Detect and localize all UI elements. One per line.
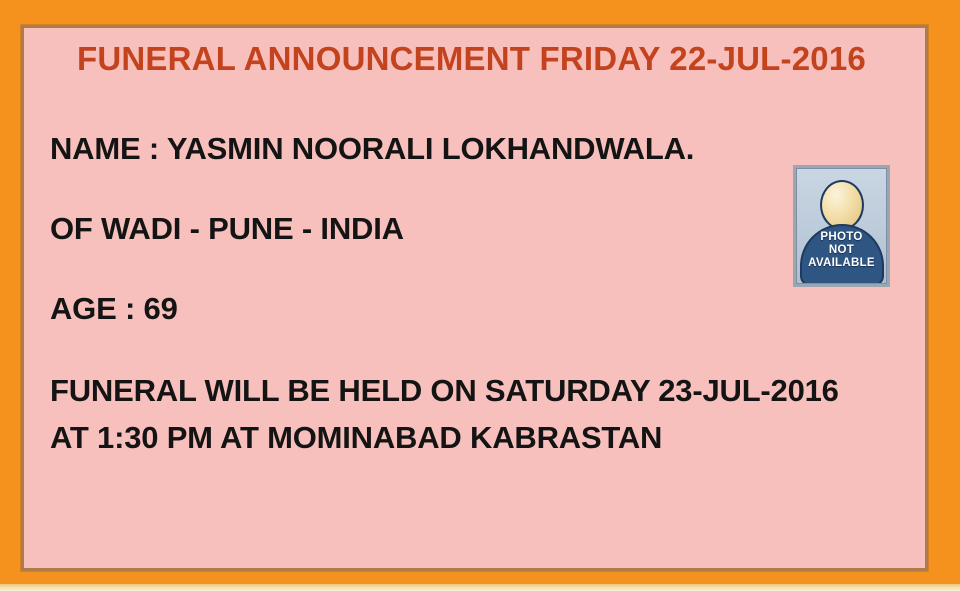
page-title: FUNERAL ANNOUNCEMENT FRIDAY 22-JUL-2016 bbox=[77, 40, 897, 78]
deceased-place-line: OF WADI - PUNE - INDIA bbox=[50, 211, 404, 247]
person-head-icon bbox=[820, 180, 864, 230]
deceased-age-line: AGE : 69 bbox=[50, 291, 178, 327]
funeral-location-line: AT 1:30 PM AT MOMINABAD KABRASTAN bbox=[50, 420, 662, 456]
photo-caption-line-1: PHOTO bbox=[797, 231, 886, 244]
photo-placeholder: PHOTO NOT AVAILABLE bbox=[793, 165, 890, 287]
funeral-announcement-poster: FUNERAL ANNOUNCEMENT FRIDAY 22-JUL-2016 … bbox=[0, 0, 960, 591]
photo-placeholder-inner: PHOTO NOT AVAILABLE bbox=[796, 168, 887, 284]
photo-caption-line-2: NOT bbox=[797, 244, 886, 257]
photo-placeholder-caption: PHOTO NOT AVAILABLE bbox=[797, 231, 886, 270]
bottom-accent-strip bbox=[0, 584, 960, 591]
announcement-card: FUNERAL ANNOUNCEMENT FRIDAY 22-JUL-2016 … bbox=[24, 28, 925, 568]
deceased-name-line: NAME : YASMIN NOORALI LOKHANDWALA. bbox=[50, 131, 694, 167]
photo-caption-line-3: AVAILABLE bbox=[797, 257, 886, 270]
funeral-datetime-line: FUNERAL WILL BE HELD ON SATURDAY 23-JUL-… bbox=[50, 373, 839, 409]
